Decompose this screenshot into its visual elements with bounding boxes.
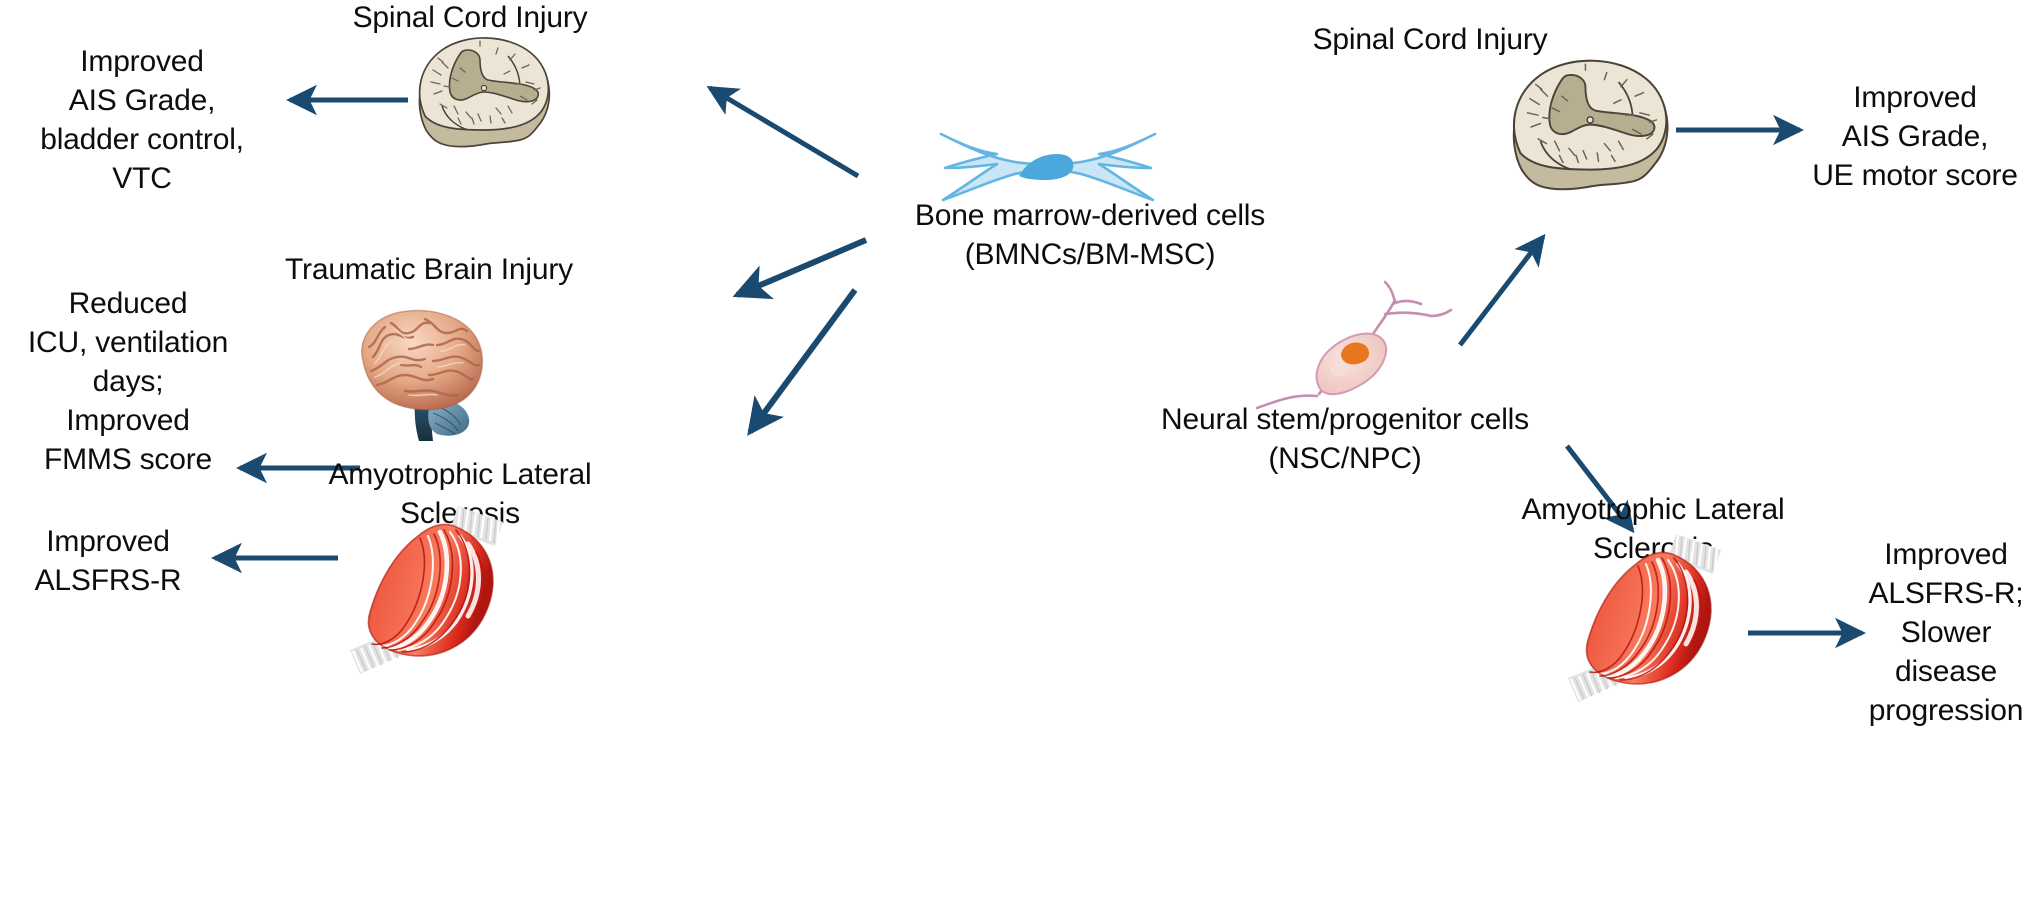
outcome-sci-right: Improved AIS Grade, UE motor score — [1790, 78, 2030, 195]
condition-label-sci-left: Spinal Cord Injury — [330, 0, 610, 37]
spinal-cord-cross-section-icon — [1500, 56, 1678, 198]
source-label-bone-marrow: Bone marrow-derived cells (BMNCs/BM-MSC) — [880, 196, 1300, 274]
outcome-als-right: Improved ALSFRS-R; Slower disease progre… — [1862, 535, 2030, 730]
brain-icon — [345, 305, 500, 445]
condition-label-tbi-left: Traumatic Brain Injury — [284, 250, 574, 289]
spinal-cord-cross-section-icon — [408, 34, 558, 154]
arrow-bm-to-sci-left — [710, 88, 858, 176]
outcome-tbi-left: Reduced ICU, ventilation days; Improved … — [0, 284, 262, 479]
outcome-sci-left: Improved AIS Grade, bladder control, VTC — [0, 42, 284, 198]
source-label-neural-stem: Neural stem/progenitor cells (NSC/NPC) — [1120, 400, 1570, 478]
condition-label-sci-right: Spinal Cord Injury — [1290, 20, 1570, 59]
arrow-bm-to-als-left — [750, 290, 855, 432]
outcome-als-left: Improved ALSFRS-R — [8, 522, 208, 600]
figure-canvas: Spinal Cord Injury Improved AIS — [0, 0, 2030, 912]
skeletal-muscle-icon — [1558, 528, 1748, 708]
arrow-bm-to-tbi-left — [737, 240, 866, 295]
neural-stem-cell-icon — [1235, 278, 1475, 413]
skeletal-muscle-icon — [340, 500, 530, 680]
